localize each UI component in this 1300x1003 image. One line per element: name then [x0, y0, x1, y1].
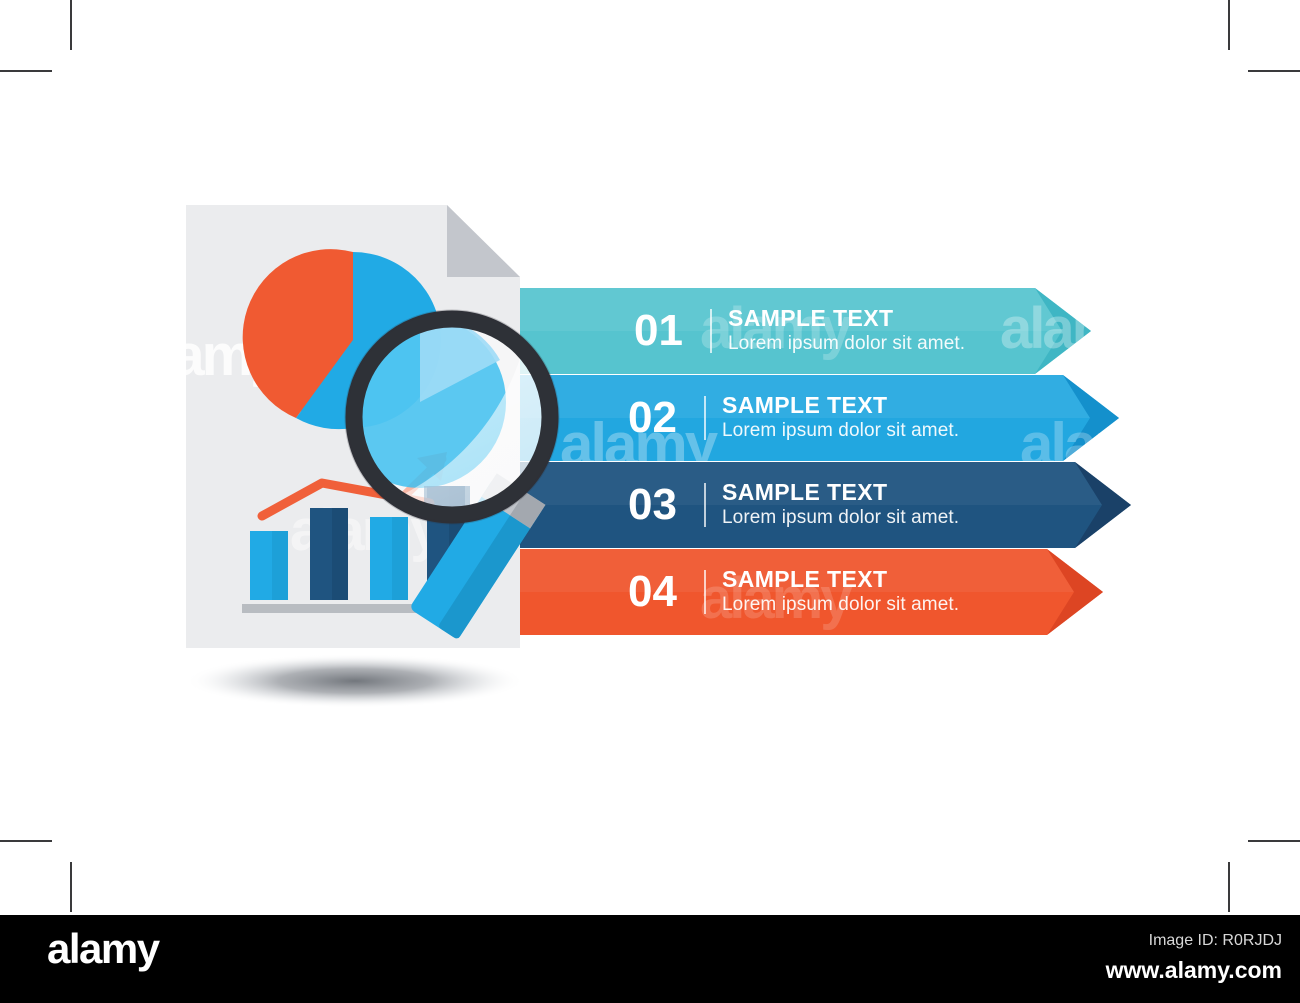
svg-text:alamy: alamy	[700, 566, 852, 631]
document-drop-shadow	[185, 654, 525, 708]
poster-canvas: alamy alamy alamy alamy alamy	[0, 0, 1300, 1003]
image-id-label: Image ID: R0RJDJ	[1149, 932, 1282, 950]
svg-text:alamy: alamy	[1000, 296, 1152, 361]
alamy-logo: alamy	[47, 928, 159, 970]
banner-1-shape: alamy alamy	[518, 288, 1152, 374]
banner-4-shape: alamy	[518, 549, 1103, 635]
infographic-artwork: alamy alamy alamy alamy alamy	[0, 0, 1300, 915]
banner-3-shape	[518, 462, 1131, 548]
alamy-url-label: www.alamy.com	[1106, 957, 1282, 984]
svg-text:alamy: alamy	[700, 296, 852, 361]
